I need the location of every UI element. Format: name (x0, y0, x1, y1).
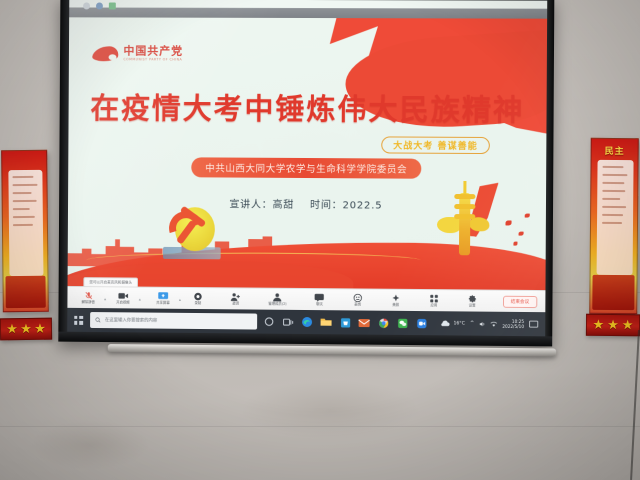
gear-icon (468, 294, 477, 303)
search-input[interactable]: 在这里输入你要搜索的内容 (90, 312, 257, 330)
volume-icon (478, 320, 485, 327)
weather-widget[interactable]: 16°C (439, 319, 465, 327)
share-screen-icon (158, 292, 169, 301)
toolbar-button-emoji[interactable]: 表情 (345, 293, 371, 307)
screen-content: 中国共产党 COMMUNIST PARTY OF CHINA 在疫情大考中锤炼伟… (67, 0, 547, 336)
star-icon: ★ (6, 323, 18, 336)
pagoda-tower-graphic (437, 179, 494, 256)
slide-badge: 大战大考 善谋善能 (381, 136, 490, 154)
task-view-icon[interactable] (281, 315, 295, 329)
invite-icon (231, 292, 241, 301)
petal-icon (505, 220, 511, 225)
start-button[interactable] (71, 312, 85, 328)
toolbar-label: 应用 (430, 304, 437, 307)
meeting-left-controls: 解除静音 ▴ 开启视频 ▴ (75, 291, 133, 305)
cortana-icon[interactable] (262, 315, 276, 329)
toolbar-button-share-screen[interactable]: 共享屏幕 (150, 291, 176, 305)
chevron-up-icon[interactable]: ▴ (179, 297, 181, 305)
wall-poster-left (1, 150, 49, 312)
toolbar-button-settings[interactable]: 设置 (459, 294, 485, 308)
slide-date: 时间：2022.5 (310, 200, 382, 212)
toolbar-label: 解除静音 (82, 301, 95, 305)
poster-right-figure (592, 275, 635, 310)
star-banner-right: ★ ★ ★ (586, 314, 640, 337)
star-icon: ★ (622, 319, 634, 332)
toolbar-button-record[interactable]: 录制 (185, 292, 211, 306)
camera-icon (118, 291, 129, 300)
wechat-icon[interactable] (395, 316, 409, 330)
toolbar-button-members[interactable]: 管理成员(2) (261, 292, 295, 306)
petal-icon (525, 214, 530, 218)
party-emblem-icon (93, 46, 119, 61)
chevron-up-icon[interactable]: ▴ (139, 297, 141, 305)
notification-icon[interactable] (529, 320, 538, 328)
star-icon: ★ (34, 322, 46, 335)
party-logo-cn: 中国共产党 (123, 45, 183, 56)
apps-icon (429, 294, 438, 303)
toolbar-button-invite[interactable]: 邀请 (223, 292, 249, 306)
network-icon (489, 320, 497, 327)
petal-icon (519, 232, 524, 236)
poster-left-body (9, 170, 44, 276)
toolbar-label: 聊天 (316, 303, 323, 306)
toolbar-label: 录制 (194, 302, 201, 305)
windows-logo-icon (74, 315, 83, 324)
toolbar-label: 共享屏幕 (156, 301, 169, 305)
party-logo-en: COMMUNIST PARTY OF CHINA (123, 58, 183, 61)
toolbar-button-unmute[interactable]: 解除静音 (75, 291, 101, 305)
poster-right-title: 民主 (592, 144, 638, 157)
chat-icon (315, 293, 325, 302)
chrome-icon[interactable] (376, 316, 390, 330)
end-meeting-button[interactable]: 结束会议 (503, 295, 538, 307)
app-top-strip (69, 0, 547, 19)
toolbar-label: 美颜 (392, 304, 399, 307)
clock-date: 2022/5/10 (502, 324, 524, 329)
wall-mounted-display: 中国共产党 COMMUNIST PARTY OF CHINA 在疫情大考中锤炼伟… (58, 0, 554, 346)
toolbar-label: 邀请 (232, 302, 239, 305)
meeting-center-controls: 共享屏幕 ▴ 录制 邀请 (150, 291, 485, 307)
slide-organization: 中共山西大同大学农学与生命科学学院委员会 (191, 157, 421, 178)
hammer-sickle-icon (163, 203, 227, 261)
record-icon (193, 292, 202, 301)
mail-icon[interactable] (357, 315, 371, 329)
star-icon: ★ (592, 318, 604, 331)
toolbar-button-apps[interactable]: 应用 (421, 294, 447, 308)
poster-left-figure (5, 276, 46, 308)
toolbar-button-chat[interactable]: 聊天 (306, 293, 332, 307)
wall-poster-right: 民主 (589, 138, 639, 314)
status-dot-icon (83, 2, 90, 9)
wall-smudge (30, 420, 150, 470)
poster-right-body (597, 160, 634, 275)
toolbar-label: 管理成员(2) (268, 302, 286, 306)
members-icon (273, 293, 283, 302)
system-tray[interactable]: ^ (470, 320, 497, 327)
microphone-muted-icon (84, 291, 93, 300)
search-icon (95, 317, 101, 323)
wall-smudge (240, 380, 420, 440)
toolbar-label: 表情 (354, 303, 361, 306)
petal-icon (513, 242, 517, 246)
taskbar-right: 16°C ^ 10:25 2022/5/10 (439, 318, 541, 329)
beauty-icon (391, 294, 400, 303)
toolbar-button-video[interactable]: 开启视频 (110, 291, 136, 305)
slide-title: 在疫情大考中锤炼伟大民族精神 (69, 85, 547, 129)
party-logo: 中国共产党 COMMUNIST PARTY OF CHINA (93, 45, 183, 61)
store-icon[interactable] (338, 315, 352, 329)
room-scene: 民主 ★ ★ ★ ★ ★ ★ (0, 0, 640, 480)
edge-icon[interactable] (300, 315, 314, 329)
presentation-slide: 中国共产党 COMMUNIST PARTY OF CHINA 在疫情大考中锤炼伟… (68, 17, 548, 290)
cloud-icon (439, 319, 450, 327)
file-explorer-icon[interactable] (319, 315, 333, 329)
emoji-icon (353, 293, 362, 302)
star-icon: ★ (607, 318, 619, 331)
chevron-up-icon[interactable]: ^ (470, 321, 474, 327)
toolbar-button-beauty[interactable]: 美颜 (383, 293, 409, 307)
weather-temperature: 16°C (453, 321, 464, 326)
signal-icon (109, 2, 116, 9)
clock[interactable]: 10:25 2022/5/10 (502, 319, 524, 330)
star-icon: ★ (20, 322, 32, 335)
toolbar-label: 开启视频 (116, 301, 129, 305)
status-dot-icon (96, 2, 103, 9)
toolbar-label: 设置 (469, 304, 476, 307)
tencent-meeting-icon[interactable] (414, 316, 428, 330)
chevron-up-icon[interactable]: ▴ (104, 296, 106, 304)
star-banner-left: ★ ★ ★ (0, 318, 52, 341)
slide-speaker: 宣讲人：高甜 (229, 199, 294, 210)
search-placeholder-text: 在这里输入你要搜索的内容 (105, 317, 157, 323)
